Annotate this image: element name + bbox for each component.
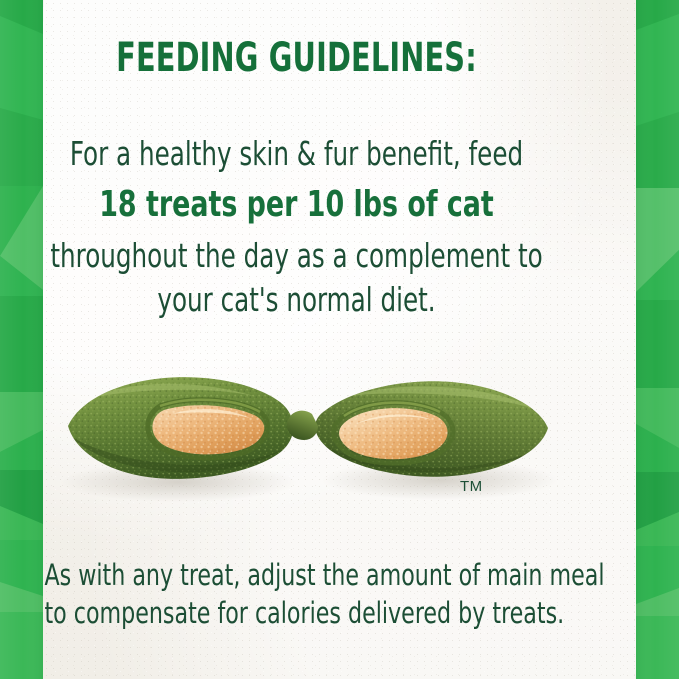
page-title: FEEDING GUIDELINES: [59, 37, 533, 79]
footnote-line-1: As with any treat, adjust the amount of … [44, 556, 548, 594]
instruction-line-3: throughout the day as a complement to [50, 234, 542, 278]
footnote: As with any treat, adjust the amount of … [0, 556, 593, 632]
footnote-line-2: to compensate for calories delivered by … [44, 594, 548, 632]
instruction-line-1: For a healthy skin & fur benefit, feed [50, 132, 542, 176]
feeding-guidelines-panel: FEEDING GUIDELINES: For a healthy skin &… [0, 0, 679, 679]
trademark-symbol: TM [460, 478, 530, 495]
instruction-dosage: 18 treats per 10 lbs of cat [50, 176, 542, 234]
feeding-instructions: For a healthy skin & fur benefit, feed 1… [0, 132, 593, 322]
instruction-line-4: your cat's normal diet. [50, 278, 542, 322]
panel-content: FEEDING GUIDELINES: For a healthy skin &… [0, 0, 679, 679]
